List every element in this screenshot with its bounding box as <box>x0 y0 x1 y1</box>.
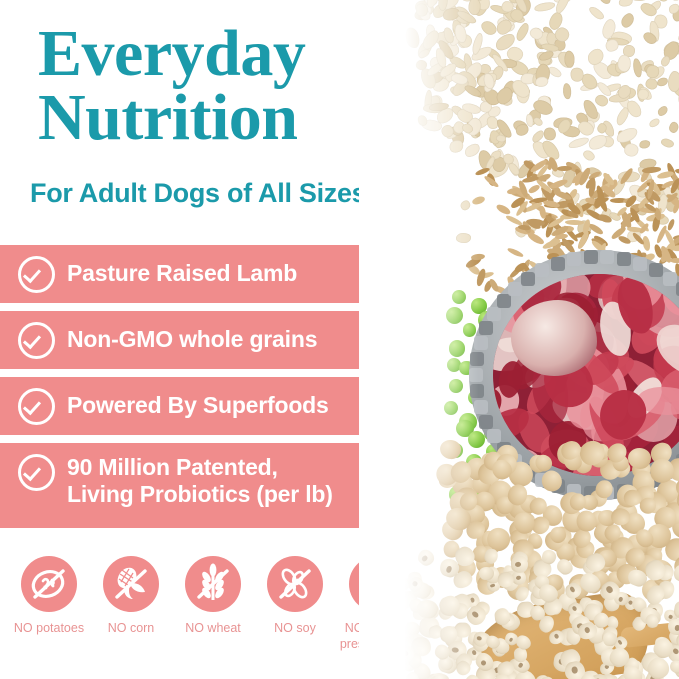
check-circle-icon <box>18 322 55 359</box>
no-corn-icon <box>103 556 159 612</box>
benefit-label: Powered By Superfoods <box>67 392 329 419</box>
product-infographic: Everyday Nutrition For Adult Dogs of All… <box>0 0 679 679</box>
free-from-item: NO potatoes <box>8 556 90 668</box>
benefit-label: 90 Million Patented, Living Probiotics (… <box>67 454 333 508</box>
benefits-list: Pasture Raised Lamb Non-GMO whole grains… <box>0 245 402 536</box>
free-from-label: NO soy <box>274 621 316 637</box>
free-from-label: NO wheat <box>185 621 241 637</box>
no-wheat-icon <box>185 556 241 612</box>
free-from-item: NO corn <box>90 556 172 668</box>
benefit-bar: Powered By Superfoods <box>0 377 402 435</box>
benefit-bar: 90 Million Patented, Living Probiotics (… <box>0 443 402 528</box>
check-circle-icon <box>18 454 55 491</box>
benefit-label-line-2: Living Probiotics (per lb) <box>67 481 333 507</box>
page-subtitle: For Adult Dogs of All Sizes <box>30 178 366 209</box>
benefit-label-line-1: 90 Million Patented, <box>67 454 278 480</box>
ingredient-photo-collage <box>359 0 679 679</box>
check-circle-icon <box>18 388 55 425</box>
free-from-item: NO wheat <box>172 556 254 668</box>
benefit-label: Pasture Raised Lamb <box>67 260 297 287</box>
free-from-label: NO corn <box>108 621 155 637</box>
headline-line-1: Everyday <box>38 17 305 90</box>
free-from-item: NO soy <box>254 556 336 668</box>
benefit-bar: Pasture Raised Lamb <box>0 245 402 303</box>
free-from-label: NO potatoes <box>14 621 84 637</box>
benefit-bar: Non-GMO whole grains <box>0 311 402 369</box>
no-soy-icon <box>267 556 323 612</box>
no-potato-icon <box>21 556 77 612</box>
benefit-label: Non-GMO whole grains <box>67 326 317 353</box>
photo-left-fade <box>359 0 479 679</box>
check-circle-icon <box>18 256 55 293</box>
